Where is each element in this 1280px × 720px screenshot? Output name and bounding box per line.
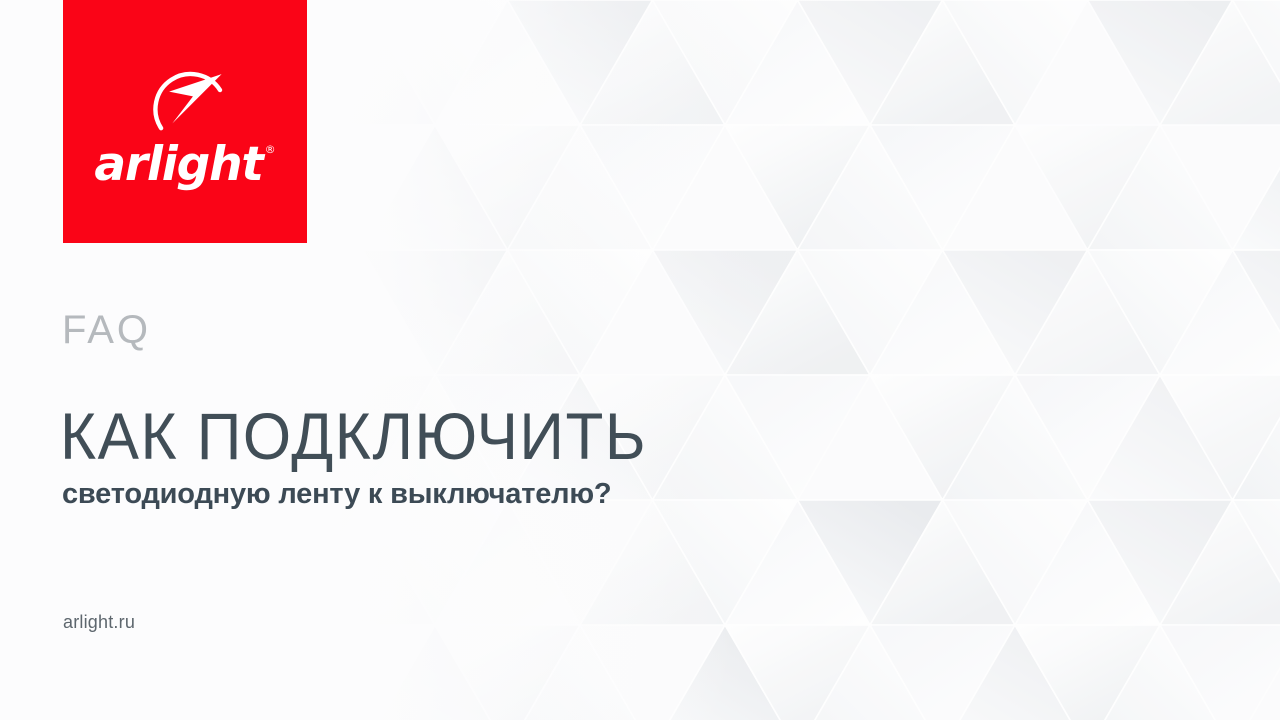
presentation-slide: arlight ® FAQ КАК ПОДКЛЮЧИТЬ светодиодну… — [0, 0, 1280, 720]
brand-wordmark-wrapper: arlight ® — [94, 141, 275, 188]
brand-wordmark: arlight — [94, 141, 262, 188]
registered-trademark-mark: ® — [265, 144, 276, 155]
brand-logo-tile: arlight ® — [63, 0, 307, 243]
page-subtitle: светодиодную ленту к выключателю? — [62, 477, 611, 512]
background-triangle — [1233, 125, 1280, 250]
eyebrow-label: FAQ — [62, 310, 151, 350]
page-title: КАК ПОДКЛЮЧИТЬ — [60, 405, 647, 471]
footer-website-url: arlight.ru — [63, 613, 135, 631]
arlight-swoosh-arrow-icon — [137, 55, 233, 133]
